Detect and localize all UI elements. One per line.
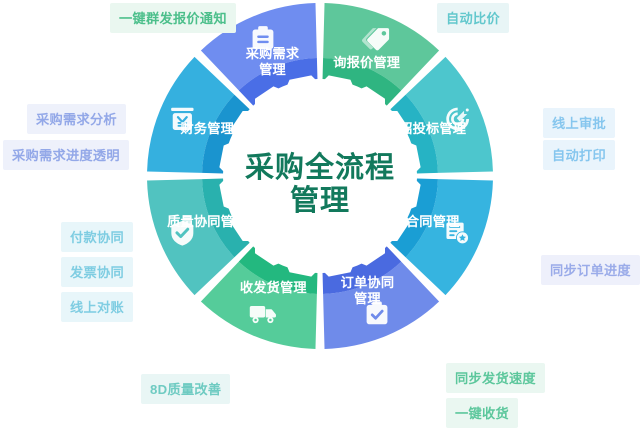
callout-one-click-receive[interactable]: 一键收货 xyxy=(446,398,518,428)
callout-quality-8d[interactable]: 8D质量改善 xyxy=(141,374,230,404)
wheel-segment-label-order-collab: 订单协同 xyxy=(341,274,395,290)
wheel-segment-label-delivery-receipt: 收发货管理 xyxy=(240,279,307,295)
center-title: 采购全流程 管理 xyxy=(220,152,420,218)
center-title-line2: 管理 xyxy=(220,185,420,218)
wheel-segment-label2-order-collab: 管理 xyxy=(354,290,381,306)
wheel-segment-label-purchase-demand: 采购需求 xyxy=(245,45,300,61)
wheel-segment-label-bidding: 招投标管理 xyxy=(399,120,466,136)
wheel-segment-label-finance: 财务管理 xyxy=(180,120,235,136)
callout-demand-analysis[interactable]: 采购需求分析 xyxy=(27,104,126,134)
callout-invoice-collab[interactable]: 发票协同 xyxy=(61,257,133,287)
infographic-canvas: 询报价管理招投标管理合同管理订单协同管理收发货管理质量协同管理财务管理采购需求管… xyxy=(0,0,640,421)
callout-demand-progress[interactable]: 采购需求进度透明 xyxy=(3,140,129,170)
callout-auto-print[interactable]: 自动打印 xyxy=(543,140,615,170)
callout-auto-price-compare[interactable]: 自动比价 xyxy=(437,3,509,33)
callout-payment-collab[interactable]: 付款协同 xyxy=(61,222,133,252)
callout-online-approval[interactable]: 线上审批 xyxy=(543,108,615,138)
wheel-segment-label2-purchase-demand: 管理 xyxy=(259,61,286,77)
callout-sync-ship-speed[interactable]: 同步发货速度 xyxy=(446,363,545,393)
callout-sync-order-progress[interactable]: 同步订单进度 xyxy=(541,255,640,285)
center-title-line1: 采购全流程 xyxy=(245,152,395,184)
wheel-segment-label-inquiry-quote: 询报价管理 xyxy=(333,54,400,70)
callout-broadcast-quote-notice[interactable]: 一键群发报价通知 xyxy=(110,3,236,33)
callout-online-reconcile[interactable]: 线上对账 xyxy=(61,292,133,322)
